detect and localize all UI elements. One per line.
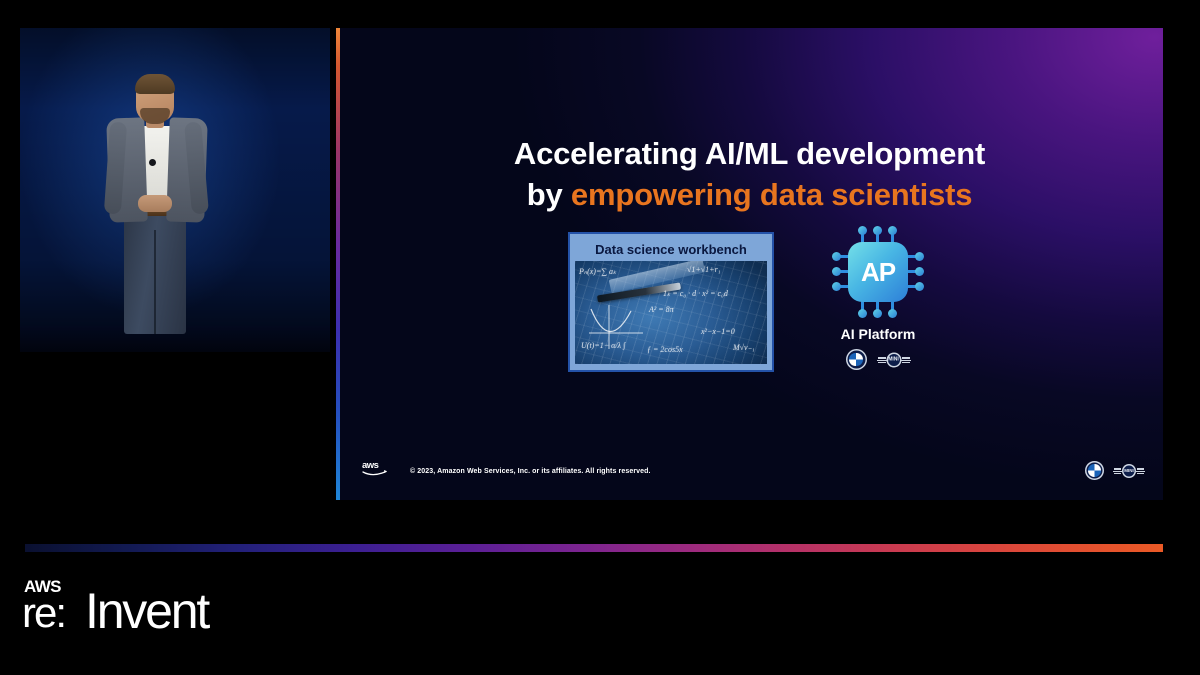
reinvent-re-text: re: — [22, 592, 65, 634]
reinvent-invent-text: Invent — [85, 586, 208, 636]
presentation-slide: Accelerating AI/ML development by empowe… — [336, 28, 1163, 500]
speaker-video-panel — [20, 28, 330, 352]
bottom-gradient-bar — [25, 544, 1163, 552]
slide-title: Accelerating AI/ML development by empowe… — [336, 134, 1163, 216]
mini-logo-icon: MINI — [1113, 463, 1145, 478]
aws-reinvent-logo: AWS re: Invent — [22, 578, 222, 640]
slide-footer-brand-logos: MINI — [1085, 461, 1145, 480]
chip-label: AP — [861, 259, 895, 285]
slide-title-line-2: by empowering data scientists — [336, 175, 1163, 216]
bmw-logo-icon — [1085, 461, 1104, 480]
ai-platform-brand-logos: MINI — [814, 349, 942, 370]
chip-body: AP — [848, 242, 908, 302]
slide-accent-stripe — [336, 28, 340, 500]
formula-text: 1ₖ = c₀ · d · x² = c₀d — [663, 289, 728, 298]
workbench-caption: Data science workbench — [575, 239, 767, 261]
formula-text: ƒ = 2cos5x — [647, 345, 683, 354]
ai-chip-icon: AP — [830, 224, 926, 320]
formula-text: M√ν₋₁ — [733, 343, 755, 352]
ai-platform-block: AP AI Platform MINI — [814, 224, 942, 370]
aws-logo-icon: aws — [362, 458, 392, 478]
speaker-jeans — [124, 212, 186, 334]
formula-text: A² = 8π — [649, 305, 674, 314]
svg-text:aws: aws — [362, 460, 379, 471]
formula-text: Pₙ(x)=∑ aₖ — [579, 267, 616, 276]
workbench-image: Pₙ(x)=∑ aₖ √1+√1+r₁ 1ₖ = c₀ · d · x² = c… — [575, 261, 767, 364]
slide-copyright: © 2023, Amazon Web Services, Inc. or its… — [410, 468, 651, 475]
slide-title-accent: empowering data scientists — [571, 177, 972, 212]
formula-text: x²−x−1=0 — [701, 327, 735, 336]
slide-title-line-1: Accelerating AI/ML development — [336, 134, 1163, 175]
speaker-beard — [140, 108, 170, 124]
formula-text: √1+√1+r₁ — [687, 265, 720, 274]
slide-title-prefix: by — [527, 177, 571, 212]
ai-platform-label: AI Platform — [814, 326, 942, 342]
speaker-figure — [94, 66, 220, 334]
formula-text: U(t)=1− α/λ ∫ — [581, 341, 625, 350]
speaker-hair — [135, 74, 175, 94]
mini-logo-icon: MINI — [877, 352, 911, 368]
lapel-microphone-icon — [149, 159, 156, 166]
speaker-hands — [138, 195, 172, 212]
data-science-workbench-card: Data science workbench Pₙ(x)=∑ aₖ √1+√1+… — [568, 232, 774, 372]
bmw-logo-icon — [846, 349, 867, 370]
